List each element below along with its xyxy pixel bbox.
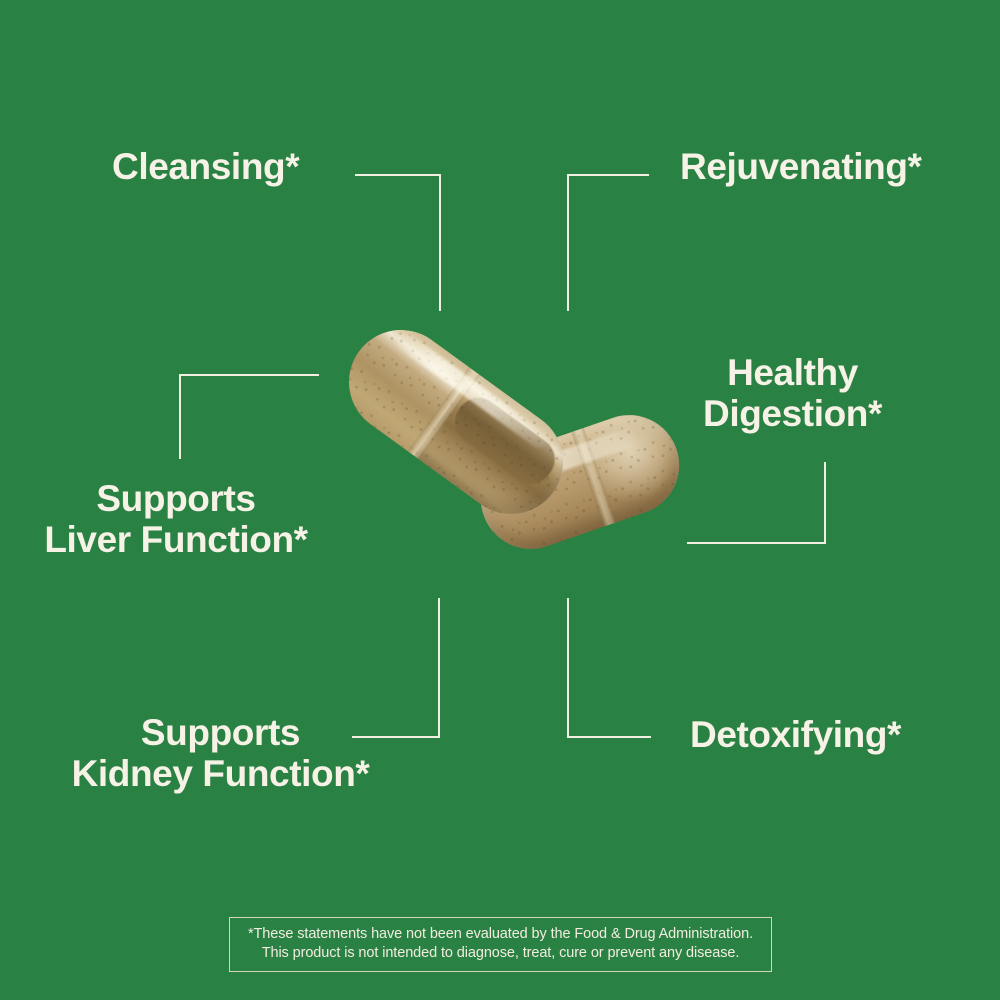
benefit-label-detoxifying: Detoxifying* — [690, 714, 970, 755]
product-capsules-image — [330, 348, 680, 580]
fda-disclaimer-box: *These statements have not been evaluate… — [229, 917, 772, 972]
benefits-infographic: Cleansing* Rejuvenating* Healthy Digesti… — [0, 0, 1000, 1000]
benefit-label-supports-liver-function: Supports Liver Function* — [16, 478, 336, 561]
capsule-front — [328, 309, 583, 534]
benefit-label-healthy-digestion: Healthy Digestion* — [640, 352, 945, 435]
benefit-label-rejuvenating: Rejuvenating* — [680, 146, 960, 187]
capsule-grain-texture — [328, 309, 583, 534]
fda-disclaimer-text: *These statements have not been evaluate… — [240, 925, 761, 963]
benefit-label-supports-kidney-function: Supports Kidney Function* — [38, 712, 403, 795]
benefit-label-cleansing: Cleansing* — [112, 146, 342, 187]
